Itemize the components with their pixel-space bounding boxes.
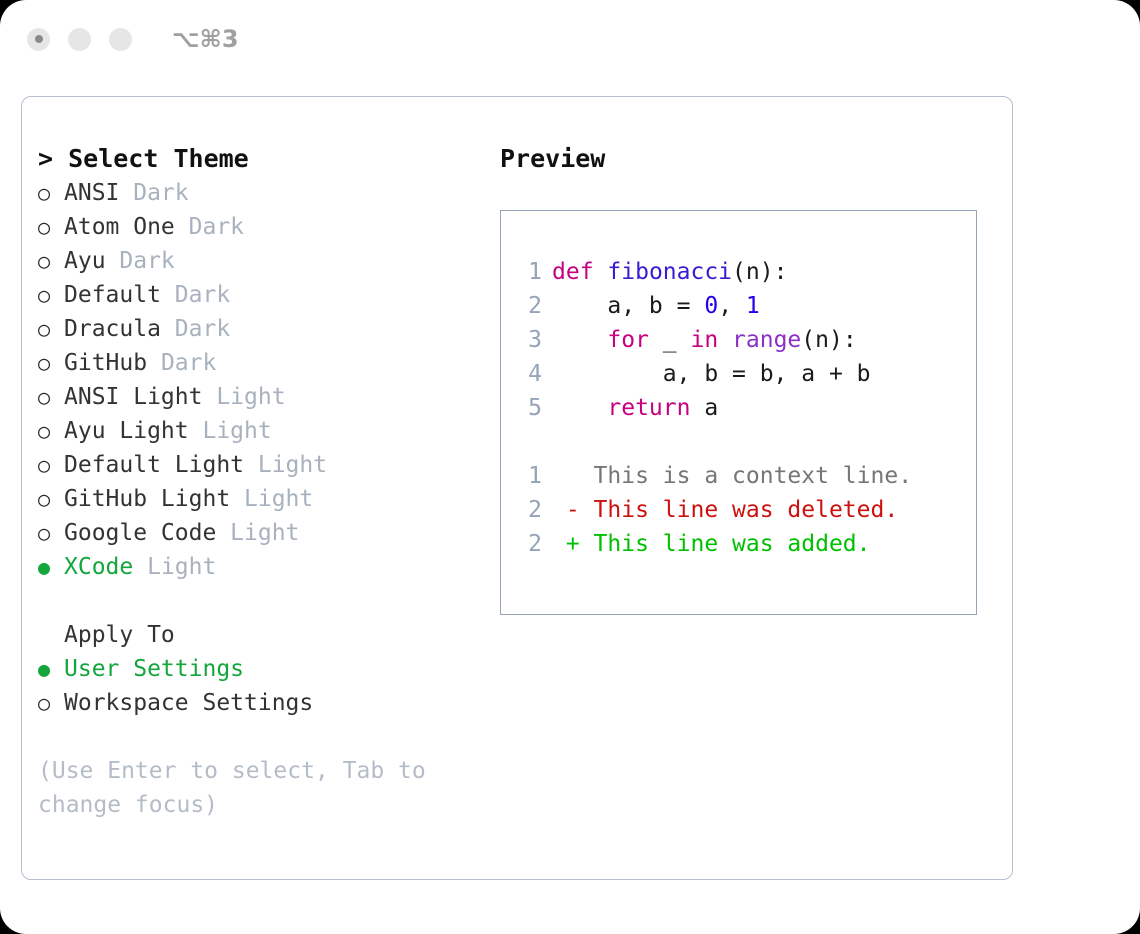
theme-list-item[interactable]: ○GitHub Dark [38, 346, 488, 380]
code-token: in [690, 327, 718, 353]
window-dot-2[interactable] [68, 28, 91, 51]
theme-variant-label: Dark [147, 346, 216, 380]
code-token: range [732, 327, 801, 353]
diff-line-text: This is a context line. [580, 459, 912, 493]
theme-list-item[interactable]: ○GitHub Light Light [38, 482, 488, 516]
code-token: _ [649, 327, 691, 353]
theme-selector-column: > Select Theme ○ANSI Dark○Atom One Dark○… [38, 142, 488, 822]
apply-to-option-label: Workspace Settings [64, 686, 313, 720]
diff-sign: + [552, 527, 580, 561]
theme-name-label: Atom One [64, 210, 175, 244]
code-token: a, b = [552, 293, 704, 319]
code-token: def [552, 259, 594, 285]
diff-line: 1 This is a context line. [514, 459, 970, 493]
code-token: 1 [746, 293, 760, 319]
theme-variant-label: Light [133, 550, 216, 584]
code-line-text: return a [552, 391, 718, 425]
recording-dot-icon [35, 35, 43, 43]
radio-unselected-icon: ○ [38, 516, 64, 550]
theme-name-label: ANSI Light [64, 380, 202, 414]
theme-list-item[interactable]: ○Ayu Light Light [38, 414, 488, 448]
apply-to-options[interactable]: ●User Settings○Workspace Settings [38, 652, 488, 720]
theme-name-label: GitHub Light [64, 482, 230, 516]
code-token [552, 395, 607, 421]
code-diff-spacer [514, 425, 970, 459]
radio-unselected-icon: ○ [38, 686, 64, 720]
diff-line-text: This line was deleted. [580, 493, 899, 527]
diff-line: 2 - This line was deleted. [514, 493, 970, 527]
apply-to-marker-spacer: ○ [38, 618, 64, 652]
theme-variant-label: Dark [161, 278, 230, 312]
theme-list-item[interactable]: ●XCode Light [38, 550, 488, 584]
code-line: 2 a, b = 0, 1 [514, 289, 970, 323]
theme-variant-label: Dark [161, 312, 230, 346]
diff-line-number: 1 [514, 459, 552, 493]
theme-name-label: Ayu [64, 244, 106, 278]
code-token: (n): [801, 327, 856, 353]
code-token: a, b = b, a + b [552, 361, 871, 387]
keyboard-shortcut-label: ⌥⌘3 [172, 25, 239, 53]
theme-name-label: ANSI [64, 176, 119, 210]
line-number: 1 [514, 255, 552, 289]
code-token [552, 327, 607, 353]
radio-unselected-icon: ○ [38, 346, 64, 380]
code-line-text: for _ in range(n): [552, 323, 857, 357]
apply-to-section: ○ Apply To ●User Settings○Workspace Sett… [38, 618, 488, 720]
theme-name-label: Ayu Light [64, 414, 189, 448]
theme-name-label: Dracula [64, 312, 161, 346]
radio-unselected-icon: ○ [38, 312, 64, 346]
theme-name-label: Default Light [64, 448, 244, 482]
apply-to-heading-row: ○ Apply To [38, 618, 488, 652]
code-line-text: a, b = 0, 1 [552, 289, 760, 323]
preview-code-box: 1def fibonacci(n):2 a, b = 0, 13 for _ i… [500, 210, 977, 615]
apply-to-option-label: User Settings [64, 652, 244, 686]
theme-list-item[interactable]: ○Dracula Dark [38, 312, 488, 346]
theme-name-label: XCode [64, 550, 133, 584]
radio-unselected-icon: ○ [38, 244, 64, 278]
theme-list-item[interactable]: ○Google Code Light [38, 516, 488, 550]
code-line: 3 for _ in range(n): [514, 323, 970, 357]
code-token: return [607, 395, 690, 421]
diff-line-number: 2 [514, 493, 552, 527]
recording-indicator-dot[interactable] [27, 28, 50, 51]
diff-sign: - [552, 493, 580, 527]
preview-code-content: 1def fibonacci(n):2 a, b = 0, 13 for _ i… [514, 255, 970, 561]
theme-variant-label: Light [216, 516, 299, 550]
radio-unselected-icon: ○ [38, 482, 64, 516]
theme-list-item[interactable]: ○Default Light Light [38, 448, 488, 482]
theme-list-item[interactable]: ○Default Dark [38, 278, 488, 312]
diff-line-text: This line was added. [580, 527, 871, 561]
apply-to-heading: Apply To [64, 618, 175, 652]
code-token: for [607, 327, 649, 353]
app-window: ⌥⌘3 > Select Theme ○ANSI Dark○Atom One D… [0, 0, 1140, 934]
main-panel: > Select Theme ○ANSI Dark○Atom One Dark○… [21, 96, 1013, 880]
theme-variant-label: Light [189, 414, 272, 448]
preview-heading: Preview [500, 142, 1000, 176]
select-theme-heading: > Select Theme [38, 142, 488, 176]
radio-unselected-icon: ○ [38, 278, 64, 312]
code-token: (n): [732, 259, 787, 285]
radio-selected-icon: ● [38, 550, 64, 584]
line-number: 5 [514, 391, 552, 425]
theme-name-label: Default [64, 278, 161, 312]
radio-unselected-icon: ○ [38, 448, 64, 482]
panel-columns: > Select Theme ○ANSI Dark○Atom One Dark○… [22, 97, 1012, 879]
theme-name-label: GitHub [64, 346, 147, 380]
line-number: 2 [514, 289, 552, 323]
theme-variant-label: Light [230, 482, 313, 516]
radio-unselected-icon: ○ [38, 176, 64, 210]
code-token: fibonacci [607, 259, 732, 285]
theme-list-item[interactable]: ○Ayu Dark [38, 244, 488, 278]
window-controls [27, 28, 132, 51]
theme-variant-label: Dark [175, 210, 244, 244]
theme-list-item[interactable]: ○Atom One Dark [38, 210, 488, 244]
diff-sign [552, 459, 580, 493]
radio-unselected-icon: ○ [38, 414, 64, 448]
apply-to-option[interactable]: ●User Settings [38, 652, 488, 686]
theme-list[interactable]: ○ANSI Dark○Atom One Dark○Ayu Dark○Defaul… [38, 176, 488, 584]
theme-list-item[interactable]: ○ANSI Light Light [38, 380, 488, 414]
diff-line: 2 + This line was added. [514, 527, 970, 561]
theme-variant-label: Light [244, 448, 327, 482]
theme-list-item[interactable]: ○ANSI Dark [38, 176, 488, 210]
code-line: 1def fibonacci(n): [514, 255, 970, 289]
theme-variant-label: Dark [106, 244, 175, 278]
diff-line-number: 2 [514, 527, 552, 561]
radio-unselected-icon: ○ [38, 210, 64, 244]
theme-name-label: Google Code [64, 516, 216, 550]
code-line-text: def fibonacci(n): [552, 255, 787, 289]
code-token [718, 327, 732, 353]
title-bar: ⌥⌘3 [0, 0, 1140, 78]
code-line-text: a, b = b, a + b [552, 357, 871, 391]
code-token: 0 [704, 293, 718, 319]
preview-column: Preview 1def fibonacci(n):2 a, b = 0, 13… [500, 142, 1000, 615]
window-dot-3[interactable] [109, 28, 132, 51]
code-line: 4 a, b = b, a + b [514, 357, 970, 391]
code-line: 5 return a [514, 391, 970, 425]
apply-to-option[interactable]: ○Workspace Settings [38, 686, 488, 720]
diff-sample: 1 This is a context line.2 - This line w… [514, 459, 970, 561]
code-token: , [718, 293, 746, 319]
line-number: 3 [514, 323, 552, 357]
code-sample: 1def fibonacci(n):2 a, b = 0, 13 for _ i… [514, 255, 970, 425]
radio-unselected-icon: ○ [38, 380, 64, 414]
code-token [594, 259, 608, 285]
line-number: 4 [514, 357, 552, 391]
theme-variant-label: Light [202, 380, 285, 414]
code-token: a [690, 395, 718, 421]
keyboard-hint: (Use Enter to select, Tab to change focu… [38, 754, 458, 822]
radio-selected-icon: ● [38, 652, 64, 686]
theme-variant-label: Dark [119, 176, 188, 210]
